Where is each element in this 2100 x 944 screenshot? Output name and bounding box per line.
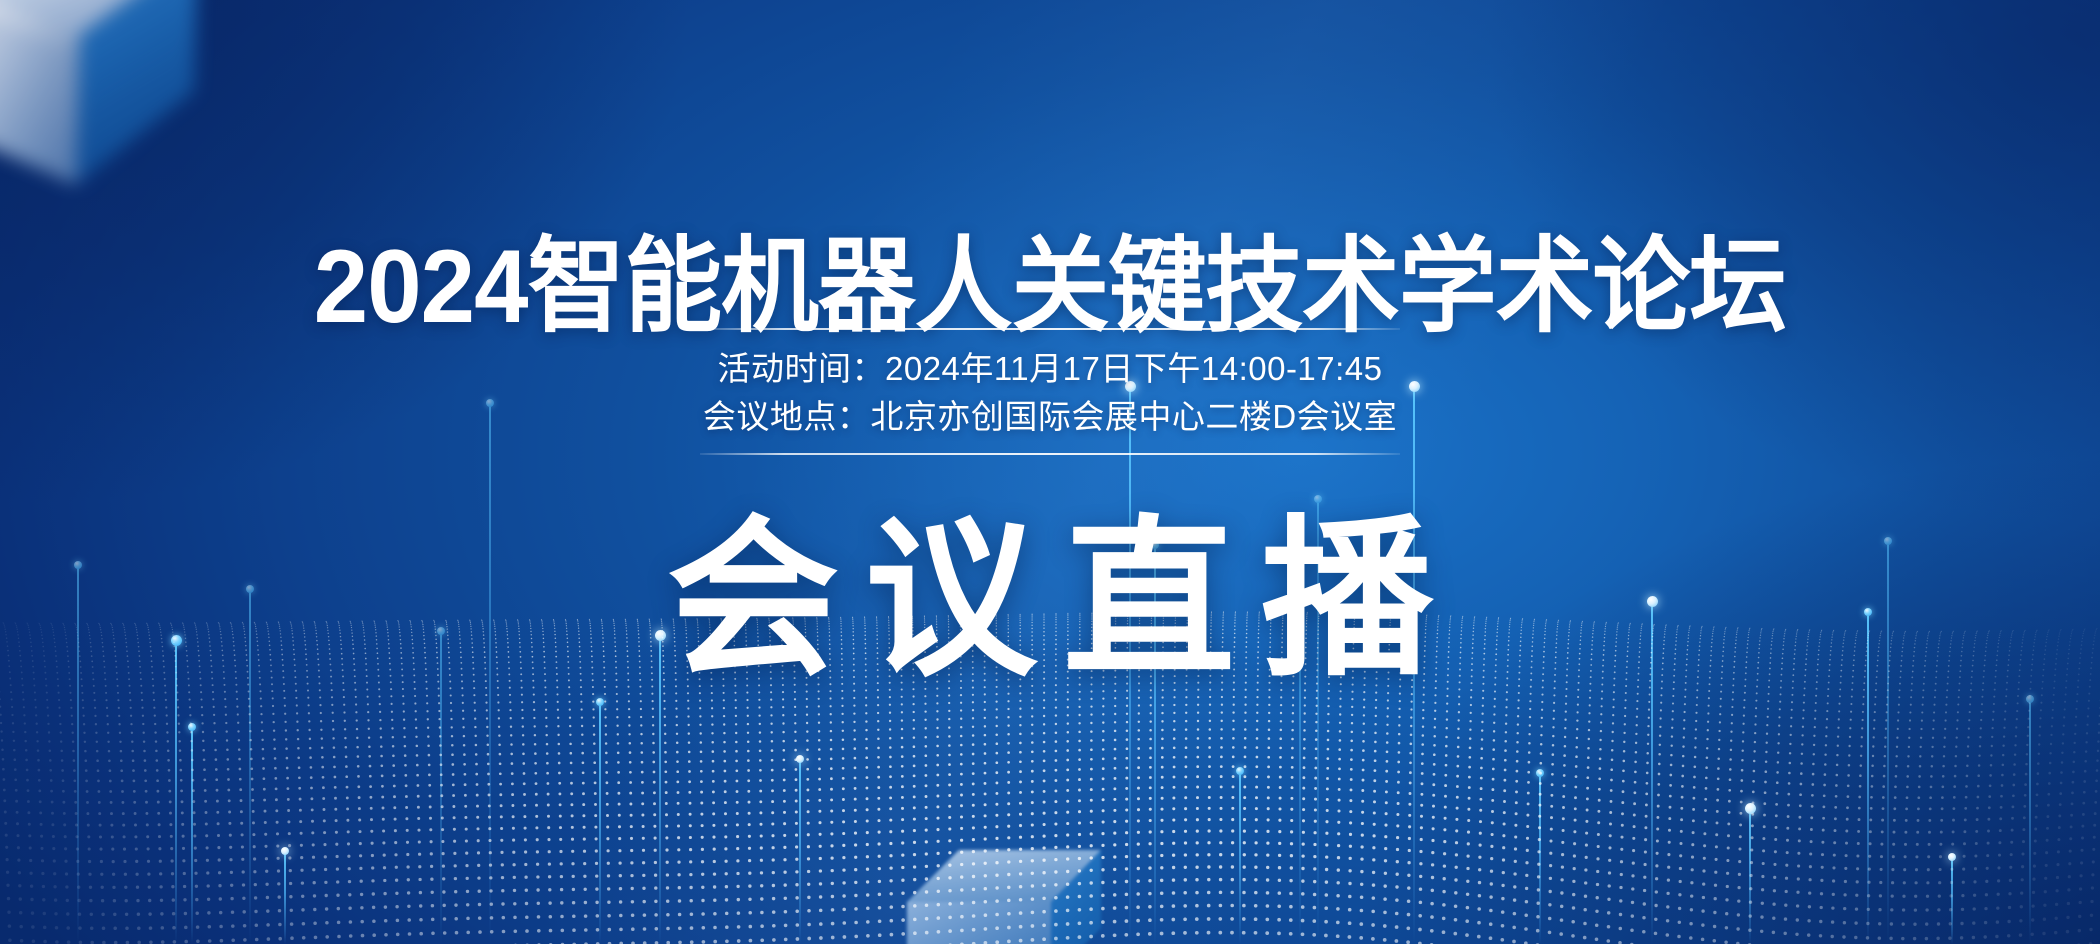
divider-bottom (700, 453, 1400, 455)
divider-top (700, 328, 1400, 330)
live-broadcast-title: 会议直播 (0, 514, 2100, 686)
event-time-line: 活动时间：2024年11月17日下午14:00-17:45 (0, 345, 2100, 393)
banner-content: 2024智能机器人关键技术学术论坛 活动时间：2024年11月17日下午14:0… (0, 0, 2100, 944)
conference-live-banner: 2024智能机器人关键技术学术论坛 活动时间：2024年11月17日下午14:0… (0, 0, 2100, 944)
event-info-block: 活动时间：2024年11月17日下午14:00-17:45 会议地点：北京亦创国… (0, 345, 2100, 441)
page-title: 2024智能机器人关键技术学术论坛 (63, 233, 2037, 342)
event-venue-line: 会议地点：北京亦创国际会展中心二楼D会议室 (0, 393, 2100, 441)
